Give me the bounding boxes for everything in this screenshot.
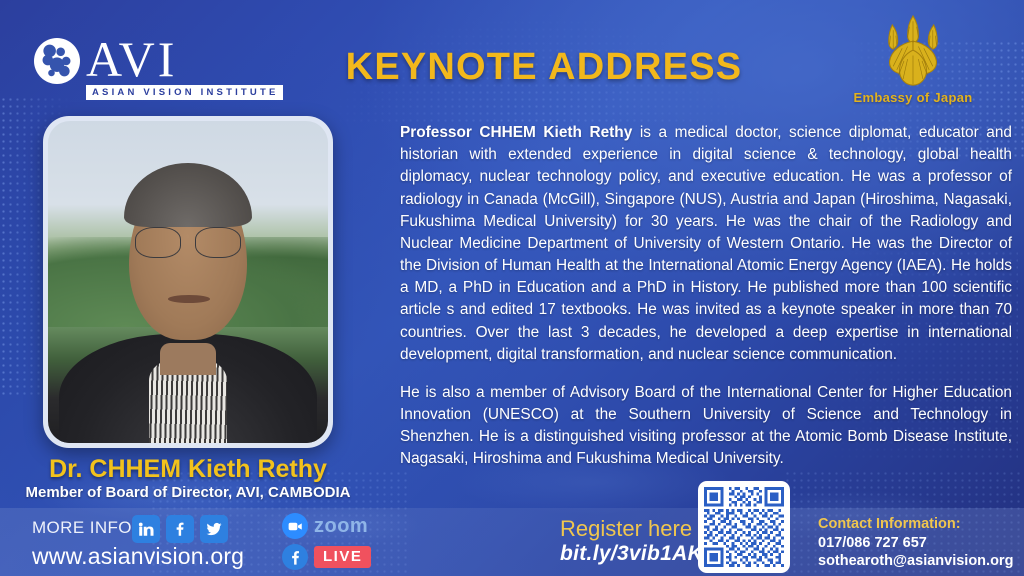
contact-email[interactable]: sothearoth@asianvision.org xyxy=(818,553,1013,569)
register-here-label: Register here xyxy=(560,516,692,542)
embassy-of-japan-block: Embassy of Japan xyxy=(828,14,998,105)
contact-phone: 017/086 727 657 xyxy=(818,535,927,551)
speaker-bio: Professor CHHEM Kieth Rethy is a medical… xyxy=(400,122,1012,487)
facebook-icon[interactable] xyxy=(166,515,194,543)
speaker-photo xyxy=(43,116,333,448)
social-links xyxy=(132,515,228,543)
avi-logo: AVI ASIAN VISION INSTITUTE xyxy=(34,36,283,100)
photo-mouth xyxy=(168,295,210,303)
bio-paragraph-1: Professor CHHEM Kieth Rethy is a medical… xyxy=(400,122,1012,366)
qr-code-image xyxy=(704,487,784,567)
contact-information-title: Contact Information: xyxy=(818,516,961,532)
speaker-portrait-image xyxy=(48,121,328,443)
facebook-icon[interactable] xyxy=(282,544,308,570)
facebook-live-badge: LIVE xyxy=(282,544,371,570)
website-url[interactable]: www.asianvision.org xyxy=(32,543,244,570)
linkedin-icon[interactable] xyxy=(132,515,160,543)
avi-logo-subtitle: ASIAN VISION INSTITUTE xyxy=(86,85,283,100)
speaker-name: Dr. CHHEM Kieth Rethy xyxy=(0,455,376,484)
more-info-label: MORE INFO: xyxy=(32,518,137,538)
bio-paragraph-2: He is also a member of Advisory Board of… xyxy=(400,382,1012,471)
zoom-label: zoom xyxy=(314,515,368,538)
embassy-of-japan-label: Embassy of Japan xyxy=(828,90,998,105)
paulownia-crest-icon xyxy=(868,14,958,88)
avi-logo-text: AVI ASIAN VISION INSTITUTE xyxy=(86,36,283,100)
bio-lead-name: Professor CHHEM Kieth Rethy xyxy=(400,124,632,141)
bio-paragraph-1-text: is a medical doctor, science diplomat, e… xyxy=(400,124,1012,363)
register-url[interactable]: bit.ly/3vib1AK xyxy=(560,542,703,566)
speaker-role: Member of Board of Director, AVI, CAMBOD… xyxy=(0,484,376,501)
qr-code-icon[interactable] xyxy=(698,481,790,573)
video-camera-icon xyxy=(282,513,308,539)
photo-neck xyxy=(160,343,216,375)
page-title: KEYNOTE ADDRESS xyxy=(334,46,754,89)
photo-glasses xyxy=(135,227,241,256)
avi-logo-word: AVI xyxy=(86,36,283,82)
globe-icon xyxy=(34,38,80,84)
live-label: LIVE xyxy=(314,546,371,568)
photo-hair xyxy=(124,163,253,227)
zoom-logo: zoom xyxy=(282,513,368,539)
twitter-icon[interactable] xyxy=(200,515,228,543)
keynote-address-poster: AVI ASIAN VISION INSTITUTE Embassy of xyxy=(0,0,1024,576)
